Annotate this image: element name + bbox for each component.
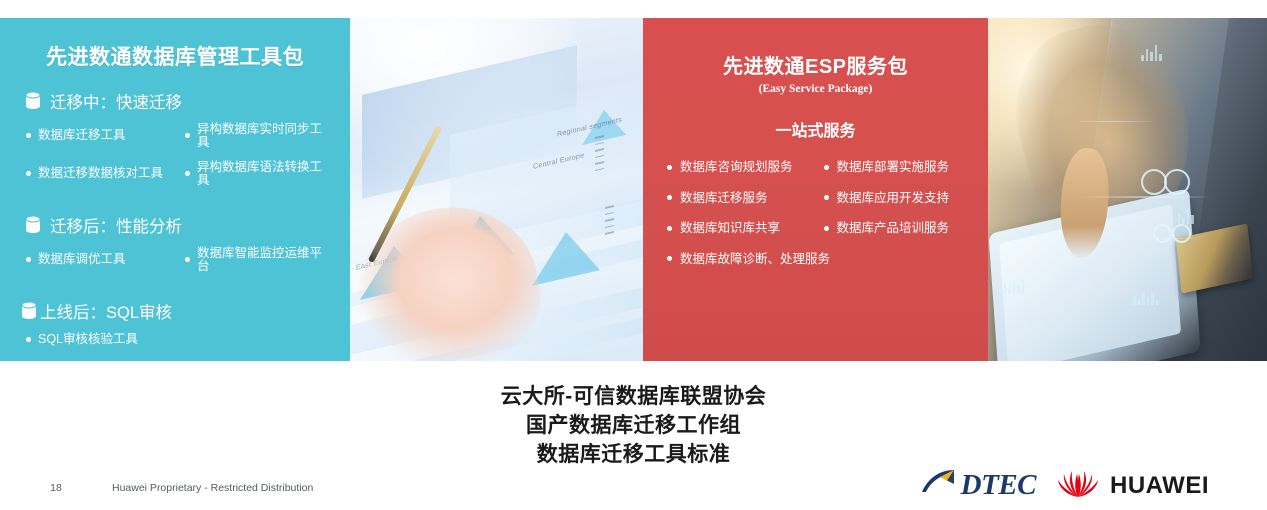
bullet-dot-icon: [824, 165, 829, 170]
axis-ticks: [595, 135, 604, 171]
list-item: 数据库迁移服务: [659, 192, 816, 205]
section-heading-migrating: 迁移中：快速迁移: [24, 89, 336, 113]
list-item-label: SQL审核核验工具: [38, 333, 138, 346]
banner-band: 先进数通数据库管理工具包 迁移中：快速迁移 数据库迁移工具 异构数据库实时同步工…: [0, 18, 1267, 361]
dtec-mark-icon: [920, 468, 960, 503]
list-item: 数据库咨询规划服务: [659, 161, 816, 174]
light-streak: [1100, 238, 1206, 240]
list-item: 数据库智能监控运维平台: [175, 247, 334, 272]
section-heading-text: 迁移后：性能分析: [50, 213, 182, 237]
list-item-label: 数据库故障诊断、处理服务: [680, 253, 830, 266]
bullet-dot-icon: [824, 226, 829, 231]
list-item-label: 数据库咨询规划服务: [680, 161, 793, 174]
bullet-dot-icon: [26, 171, 31, 176]
title-line-3: 数据库迁移工具标准: [0, 440, 1267, 469]
left-panel-title: 先进数通数据库管理工具包: [14, 41, 336, 71]
light-streak: [1072, 121, 1156, 123]
bullet-list-migrating: 数据库迁移工具 异构数据库实时同步工具 数据迁移数据核对工具 异构数据库语法转换…: [14, 123, 336, 199]
list-item-label: 数据库调优工具: [38, 253, 126, 266]
slide-canvas: 先进数通数据库管理工具包 迁移中：快速迁移 数据库迁移工具 异构数据库实时同步工…: [0, 0, 1267, 510]
list-item-label: 数据库迁移工具: [38, 129, 126, 142]
page-number: 18: [0, 482, 112, 494]
database-icon: [24, 91, 42, 111]
ring-graphic-icon: [1172, 224, 1191, 243]
ring-graphic-icon: [1164, 169, 1190, 195]
list-item-label: 异构数据库实时同步工具: [197, 123, 334, 148]
list-item: 数据库产品培训服务: [816, 222, 973, 235]
list-item-label: 数据库部署实施服务: [837, 161, 950, 174]
list-item: SQL审核核验工具: [16, 333, 334, 346]
axis-ticks: [605, 205, 614, 235]
bar-graphic: [1141, 45, 1162, 61]
list-item: 数据迁移数据核对工具: [16, 161, 175, 186]
red-panel-title: 先进数通ESP服务包: [653, 50, 978, 79]
list-item: 数据库迁移工具: [16, 123, 175, 148]
database-icon: [24, 215, 42, 235]
red-panel-mid-heading: 一站式服务: [653, 117, 978, 141]
bullet-dot-icon: [667, 165, 672, 170]
bullet-dot-icon: [185, 133, 190, 138]
center-analytics-photo: East Europe West Europe Regional segment…: [350, 18, 643, 361]
bullet-dot-icon: [185, 171, 190, 176]
list-item-label: 异构数据库语法转换工具: [197, 161, 334, 186]
list-item: 数据库故障诊断、处理服务: [659, 253, 972, 266]
ring-graphic-icon: [1153, 224, 1172, 243]
list-item-label: 数据库迁移服务: [680, 192, 768, 205]
left-cyan-panel: 先进数通数据库管理工具包 迁移中：快速迁移 数据库迁移工具 异构数据库实时同步工…: [0, 18, 350, 361]
list-item: 异构数据库语法转换工具: [175, 161, 334, 186]
bar-graphic: [1027, 313, 1048, 327]
list-item-label: 数据库知识库共享: [680, 222, 780, 235]
bullet-dot-icon: [667, 226, 672, 231]
bullet-list-after-launch: SQL审核核验工具: [14, 333, 336, 359]
section-heading-text: 上线后：SQL审核: [40, 299, 172, 323]
list-item: 数据库知识库共享: [659, 222, 816, 235]
list-item: 异构数据库实时同步工具: [175, 123, 334, 148]
list-item: 数据库部署实施服务: [816, 161, 973, 174]
title-line-1: 云大所-可信数据库联盟协会: [0, 382, 1267, 411]
section-heading-after-migration: 迁移后：性能分析: [24, 213, 336, 237]
database-icon: [20, 301, 38, 321]
footer-left: 18 Huawei Proprietary - Restricted Distr…: [0, 482, 313, 494]
dtec-wordmark: DTEC: [961, 471, 1036, 500]
bullet-dot-icon: [26, 337, 31, 342]
bar-graphic: [999, 279, 1024, 294]
red-panel-subtitle: (Easy Service Package): [653, 83, 978, 95]
dtec-logo: DTEC: [920, 468, 1036, 503]
list-item-label: 数据库应用开发支持: [837, 192, 950, 205]
bullet-dot-icon: [26, 257, 31, 262]
list-item: 数据库应用开发支持: [816, 192, 973, 205]
huawei-logo: HUAWEI: [1056, 468, 1209, 503]
bullet-dot-icon: [824, 195, 829, 200]
bar-graphic: [1178, 210, 1194, 224]
right-red-panel: 先进数通ESP服务包 (Easy Service Package) 一站式服务 …: [643, 18, 988, 361]
confidentiality-notice: Huawei Proprietary - Restricted Distribu…: [112, 482, 313, 494]
list-item: 数据库调优工具: [16, 247, 175, 272]
bullet-dot-icon: [667, 195, 672, 200]
page-title: 云大所-可信数据库联盟协会 国产数据库迁移工作组 数据库迁移工具标准: [0, 382, 1267, 469]
bullet-dot-icon: [667, 256, 672, 261]
bar-graphic: [1133, 292, 1158, 305]
huawei-wordmark: HUAWEI: [1110, 474, 1209, 498]
section-heading-text: 迁移中：快速迁移: [50, 89, 182, 113]
bullet-list-after-migration: 数据库调优工具 数据库智能监控运维平台: [14, 247, 336, 285]
title-line-2: 国产数据库迁移工作组: [0, 411, 1267, 440]
bullet-dot-icon: [185, 257, 190, 262]
light-streak: [1083, 196, 1211, 198]
bullet-dot-icon: [26, 133, 31, 138]
list-item-label: 数据库产品培训服务: [837, 222, 950, 235]
huawei-flower-icon: [1056, 468, 1100, 503]
list-item-label: 数据迁移数据核对工具: [38, 167, 163, 180]
list-item-label: 数据库智能监控运维平台: [197, 247, 334, 272]
section-heading-after-launch: 上线后：SQL审核: [20, 299, 336, 323]
footer-logos: DTEC HUAWEI: [920, 468, 1209, 503]
red-bullet-list: 数据库咨询规划服务 数据库部署实施服务 数据库迁移服务 数据库应用开发支持 数据…: [653, 161, 978, 283]
right-tablet-photo: [988, 18, 1267, 361]
